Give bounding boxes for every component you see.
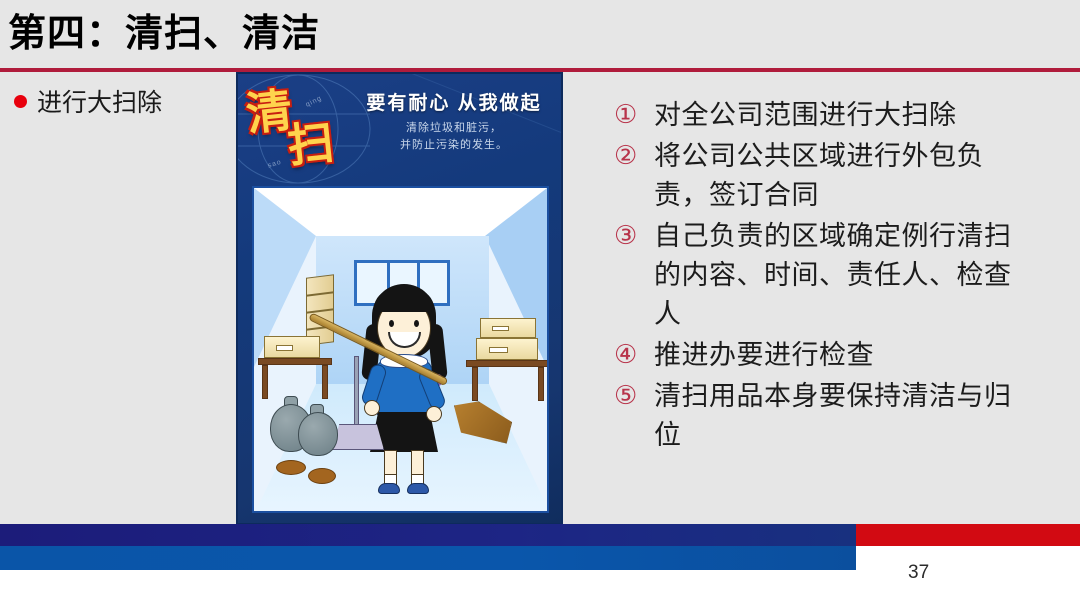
poster-slogan: 要有耐心 从我做起: [350, 88, 558, 115]
list-item-text: 自己负责的区域确定例行清扫的内容、时间、责任人、检查人: [654, 217, 1014, 334]
footer-blue-bar: [0, 546, 856, 570]
list-marker: ③: [614, 217, 644, 256]
list-item-text: 清扫用品本身要保持清洁与归位: [654, 377, 1014, 455]
poster-subtext-line-2: 并防止污染的发生。: [350, 137, 558, 154]
left-bullet-label: 进行大扫除: [37, 83, 162, 119]
floor-debris-1: [276, 460, 306, 475]
dustpan-icon: [332, 424, 384, 450]
list-item-text: 对全公司范围进行大扫除: [654, 96, 957, 135]
list-marker: ④: [614, 336, 644, 375]
shoe-right: [407, 483, 429, 494]
left-bullet-item: 进行大扫除: [14, 84, 234, 118]
footer-navy-bar: [0, 524, 856, 546]
box-right-lower: [476, 338, 538, 360]
poster-header: 清 扫 qing sao 要有耐心 从我做起 清除垃圾和脏污， 并防止污染的发生…: [238, 74, 563, 184]
floor-debris-2: [308, 468, 336, 484]
footer-red-bar: [856, 524, 1080, 546]
red-dot-bullet-icon: [14, 95, 27, 108]
poster-illustration: [252, 186, 549, 513]
fringe: [374, 290, 434, 312]
eye-left: [389, 320, 394, 327]
shelf-unit: [306, 274, 334, 345]
trash-bag-2: [298, 412, 338, 456]
list-item-text: 将公司公共区域进行外包负责，签订合同: [654, 137, 1014, 215]
list-marker: ⑤: [614, 377, 644, 416]
poster-pinyin-1: qing: [305, 95, 324, 109]
shoe-left: [378, 483, 400, 494]
dustpan-handle: [354, 356, 359, 426]
cleaning-poster-image: 清 扫 qing sao 要有耐心 从我做起 清除垃圾和脏污， 并防止污染的发生…: [236, 72, 563, 525]
list-item-text: 推进办要进行检查: [654, 336, 874, 375]
box-right-upper: [480, 318, 536, 338]
poster-title-char-2: 扫: [285, 119, 336, 170]
slide-canvas: 第四：清扫、清洁 进行大扫除 清 扫 qing sao 要有耐心 从我做起 清除…: [0, 0, 1080, 608]
list-item: ③ 自己负责的区域确定例行清扫的内容、时间、责任人、检查人: [614, 217, 1014, 334]
girl-figure: [362, 284, 446, 494]
list-marker: ①: [614, 96, 644, 135]
poster-subtext-line-1: 清除垃圾和脏污，: [350, 120, 558, 137]
hand-right: [426, 406, 442, 422]
eye-right: [414, 320, 419, 327]
list-item: ② 将公司公共区域进行外包负责，签订合同: [614, 137, 1014, 215]
poster-big-title: 清 扫 qing sao: [241, 77, 355, 179]
box-left: [264, 336, 320, 358]
hand-left: [364, 400, 380, 416]
slide-header: 第四：清扫、清洁: [0, 0, 1080, 70]
list-item: ① 对全公司范围进行大扫除: [614, 96, 1014, 135]
list-item: ⑤ 清扫用品本身要保持清洁与归位: [614, 377, 1014, 455]
page-number: 37: [908, 562, 929, 584]
list-marker: ②: [614, 137, 644, 176]
poster-subtext: 清除垃圾和脏污， 并防止污染的发生。: [350, 120, 558, 154]
numbered-list: ① 对全公司范围进行大扫除 ② 将公司公共区域进行外包负责，签订合同 ③ 自己负…: [614, 96, 1014, 457]
list-item: ④ 推进办要进行检查: [614, 336, 1014, 375]
page-title: 第四：清扫、清洁: [8, 8, 320, 60]
poster-pinyin-2: sao: [267, 159, 283, 170]
